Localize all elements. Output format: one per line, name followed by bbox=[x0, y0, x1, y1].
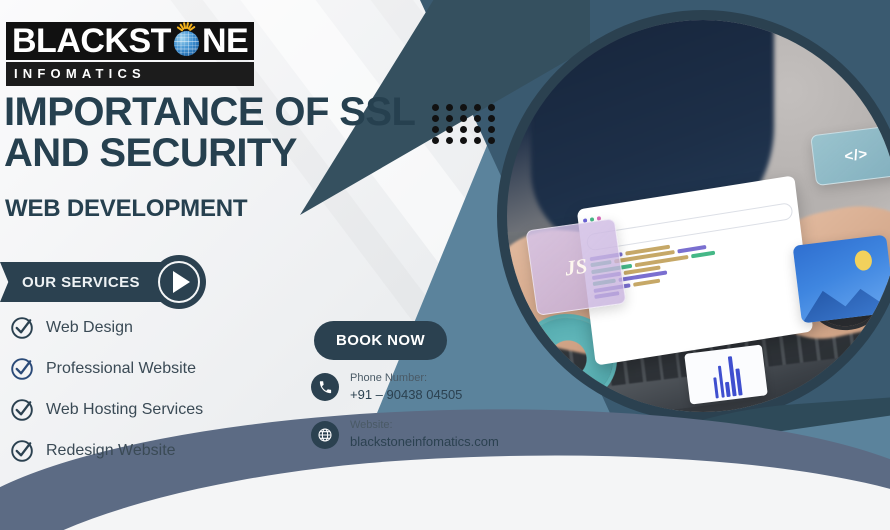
check-circle-icon bbox=[10, 397, 35, 422]
contact-phone[interactable]: Phone Number: +91 – 90438 04505 bbox=[311, 371, 499, 403]
phone-value: +91 – 90438 04505 bbox=[350, 386, 462, 404]
play-triangle bbox=[173, 271, 190, 293]
play-ring bbox=[158, 261, 200, 303]
book-now-button[interactable]: BOOK NOW bbox=[314, 321, 447, 360]
headline-line-1: IMPORTANCE OF SSL bbox=[4, 92, 415, 133]
ribbon-shape: OUR SERVICES bbox=[0, 262, 166, 302]
headline-line-2: AND SECURITY bbox=[4, 133, 415, 174]
ribbon-label: OUR SERVICES bbox=[22, 274, 140, 291]
service-label: Redesign Website bbox=[46, 442, 176, 460]
check-circle-icon bbox=[10, 356, 35, 381]
brand-name-tail: NE bbox=[202, 24, 248, 58]
service-label: Professional Website bbox=[46, 360, 196, 378]
brand-logo[interactable]: BLACKST NE INFOMATICS bbox=[6, 22, 254, 86]
website-value: blackstoneinfomatics.com bbox=[350, 433, 499, 451]
list-item[interactable]: Redesign Website bbox=[10, 438, 203, 463]
list-item[interactable]: Web Design bbox=[10, 315, 203, 340]
code-tag-card: </> bbox=[810, 125, 890, 186]
dot-grid-icon bbox=[432, 104, 502, 148]
page-title: IMPORTANCE OF SSL AND SECURITY bbox=[4, 92, 415, 174]
phone-icon bbox=[311, 373, 339, 401]
check-circle-icon bbox=[10, 315, 35, 340]
bar-chart-icon bbox=[684, 345, 768, 405]
image-card-icon bbox=[793, 234, 890, 323]
list-item[interactable]: Web Hosting Services bbox=[10, 397, 203, 422]
check-circle-icon bbox=[10, 438, 35, 463]
brand-logo-main: BLACKST NE bbox=[6, 22, 254, 60]
services-list: Web Design Professional Website Web Host… bbox=[10, 315, 203, 463]
service-label: Web Design bbox=[46, 319, 133, 337]
promo-banner: JS </> BLACKST bbox=[0, 0, 890, 530]
website-label: Website: bbox=[350, 418, 499, 433]
our-services-banner[interactable]: OUR SERVICES bbox=[0, 255, 220, 309]
brand-tagline-bar: INFOMATICS bbox=[6, 62, 254, 86]
globe-icon bbox=[311, 421, 339, 449]
contact-info: Phone Number: +91 – 90438 04505 Website:… bbox=[311, 371, 499, 451]
phone-label: Phone Number: bbox=[350, 371, 462, 386]
contact-website[interactable]: Website: blackstoneinfomatics.com bbox=[311, 418, 499, 450]
brand-name-main: BLACKST bbox=[12, 24, 171, 58]
js-badge-card: JS bbox=[525, 218, 626, 316]
page-subtitle: WEB DEVELOPMENT bbox=[5, 195, 247, 223]
service-label: Web Hosting Services bbox=[46, 401, 203, 419]
hero-photo: JS </> bbox=[507, 20, 890, 412]
play-icon[interactable] bbox=[152, 255, 206, 309]
globe-sphere bbox=[174, 31, 199, 56]
brand-tagline: INFOMATICS bbox=[14, 66, 146, 81]
hero-photo-ring: JS </> bbox=[497, 10, 890, 422]
list-item[interactable]: Professional Website bbox=[10, 356, 203, 381]
globe-icon bbox=[172, 27, 201, 56]
sun-shape bbox=[854, 249, 873, 271]
